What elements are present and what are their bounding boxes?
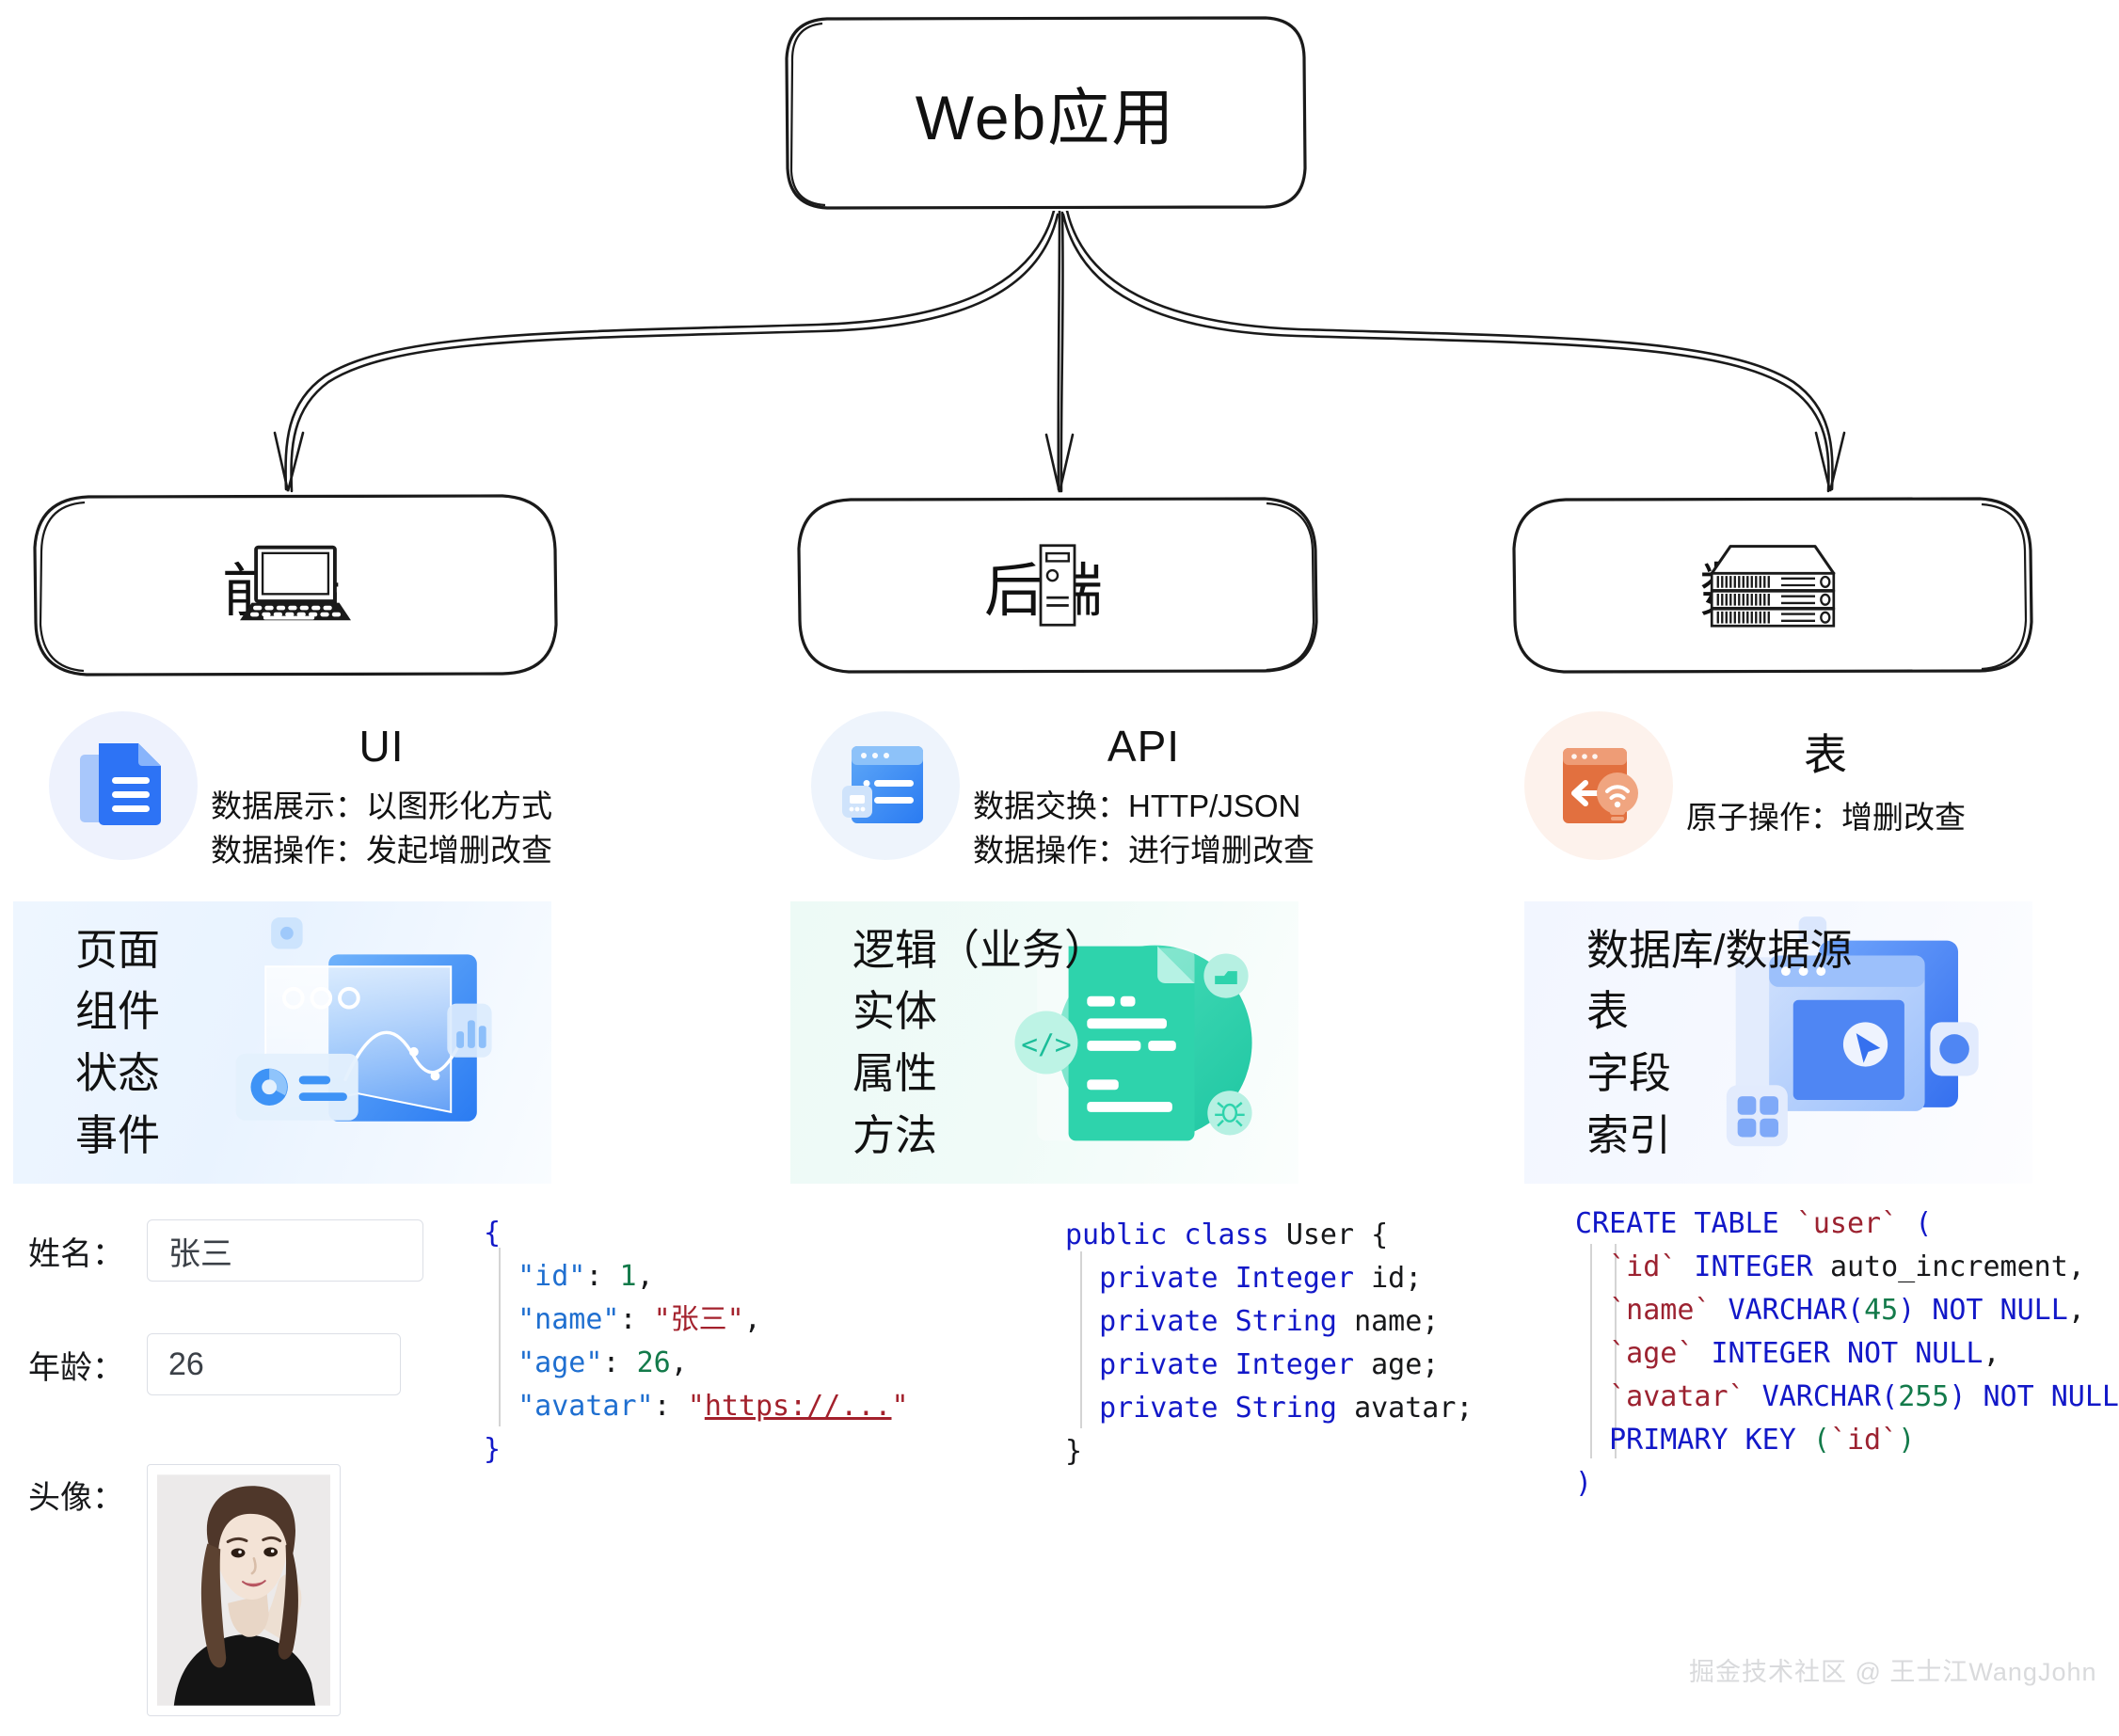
branch-node-backend[interactable]: 后端 (796, 496, 1319, 675)
illustration-band-backend: </> 逻辑（业务） 实体 属性 方法 (790, 901, 1298, 1184)
age-input[interactable]: 26 (147, 1333, 401, 1395)
watermark: 掘金技术社区 @ 王士江WangJohn (1689, 1651, 2097, 1688)
band-word: 方法 (852, 1111, 1107, 1160)
band-word-list: 数据库/数据源 表 字段 索引 (1524, 926, 1853, 1160)
form-row-avatar: 头像： (28, 1464, 341, 1716)
root-node-web-app[interactable]: Web应用 (784, 15, 1307, 211)
band-word: 状态 (75, 1049, 160, 1098)
avatar-label: 头像： (28, 1464, 147, 1518)
code-block-json: { "id": 1, "name": "张三", "age": 26, "ava… (484, 1212, 909, 1472)
api-window-icon (811, 711, 960, 860)
illustration-band-frontend: 页面 组件 状态 事件 (13, 901, 551, 1184)
band-word: 事件 (75, 1111, 160, 1160)
band-word: 索引 (1586, 1111, 1853, 1160)
illustration-band-database: 数据库/数据源 表 字段 索引 (1524, 901, 2032, 1184)
name-label: 姓名： (28, 1228, 147, 1274)
feature-ui: UI 数据展示：以图形化方式 数据操作：发起增删改查 (49, 711, 552, 873)
feature-api: API 数据交换：HTTP/JSON 数据操作：进行增删改查 (811, 711, 1314, 873)
age-label: 年龄： (28, 1342, 147, 1388)
band-word: 实体 (852, 987, 1107, 1036)
name-input[interactable]: 张三 (147, 1219, 423, 1282)
table-arrow-icon (1524, 711, 1673, 860)
feature-line: 数据交换：HTTP/JSON (973, 785, 1314, 829)
feature-line: 数据操作：发起增删改查 (211, 829, 552, 873)
code-block-sql: CREATE TABLE `user` ( `id` INTEGER auto_… (1575, 1202, 2119, 1505)
root-node-label: Web应用 (916, 68, 1176, 158)
band-word: 逻辑（业务） (852, 926, 1107, 975)
code-block-java: public class User { private Integer id; … (1065, 1214, 1474, 1473)
band-word-list: 页面 组件 状态 事件 (13, 926, 160, 1160)
feature-line: 数据操作：进行增删改查 (973, 829, 1314, 873)
feature-line: 原子操作：增删改查 (1686, 796, 1966, 840)
feature-title: API (973, 721, 1314, 772)
form-row-name: 姓名： 张三 (28, 1219, 423, 1282)
document-icon (49, 711, 198, 860)
feature-title: UI (211, 721, 552, 772)
band-word: 表 (1586, 987, 1853, 1036)
avatar-upload-box[interactable] (147, 1464, 341, 1716)
band-word: 属性 (852, 1049, 1107, 1098)
band-word: 组件 (75, 987, 160, 1036)
band-word: 字段 (1586, 1049, 1853, 1098)
band-word: 数据库/数据源 (1586, 926, 1853, 975)
dashboard-illustration (217, 901, 551, 1184)
avatar (157, 1474, 330, 1706)
branch-node-database[interactable]: 数据 (1511, 496, 2034, 675)
feature-line: 数据展示：以图形化方式 (211, 785, 552, 829)
branch-node-frontend[interactable]: 前端 (32, 493, 559, 677)
feature-title: 表 (1686, 721, 1966, 783)
form-row-age: 年龄： 26 (28, 1333, 401, 1395)
band-word: 页面 (75, 926, 160, 975)
band-word-list: 逻辑（业务） 实体 属性 方法 (790, 926, 1107, 1160)
feature-table: 表 原子操作：增删改查 (1524, 711, 1966, 860)
